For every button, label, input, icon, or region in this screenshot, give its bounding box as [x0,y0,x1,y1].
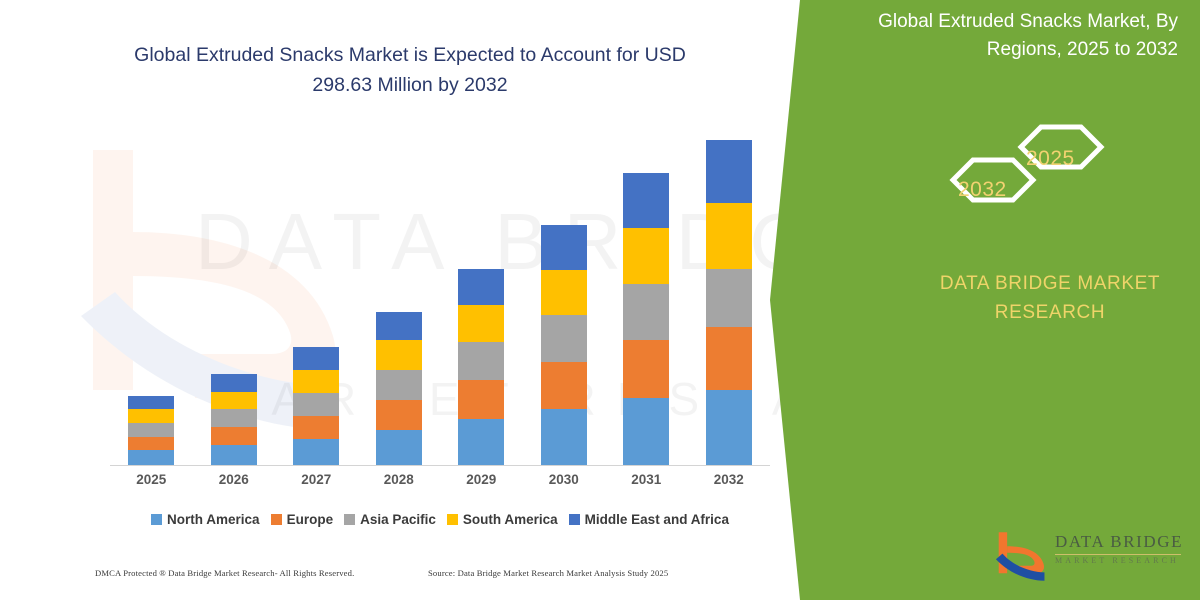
legend-item[interactable]: North America [151,512,260,527]
bar-segment [128,423,174,437]
hexagon-label-start: 2025 [1026,147,1075,171]
bar-segment [128,396,174,410]
bar-segment [706,269,752,327]
legend-label: South America [463,512,558,527]
chart-legend: North AmericaEuropeAsia PacificSouth Ame… [110,512,770,527]
bar-segment [458,380,504,419]
x-axis-tick-label: 2027 [293,472,339,487]
stacked-bar-chart: 20252026202720282029203020312032 [0,0,800,600]
x-axis-tick-label: 2028 [376,472,422,487]
bar-segment [706,203,752,269]
bar-segment [623,398,669,465]
bar-column [458,269,504,465]
legend-swatch-icon [569,514,580,525]
bar-segment [211,427,257,445]
bar-column [376,312,422,465]
brand-logo: DATA BRIDGE MARKET RESEARCH [995,528,1195,584]
bar-segment [293,416,339,439]
logo-tagline: MARKET RESEARCH [1055,556,1179,565]
bar-segment [376,340,422,369]
bar-segment [541,409,587,465]
bar-segment [458,269,504,305]
bar-segment [293,393,339,416]
bar-segment [293,439,339,465]
bar-segment [211,392,257,410]
bar-column [211,374,257,465]
footer: DMCA Protected ® Data Bridge Market Rese… [0,568,800,592]
legend-item[interactable]: South America [447,512,558,527]
bar-segment [541,270,587,315]
bar-segment [128,450,174,465]
hexagon-outline-icon [925,105,1115,220]
legend-swatch-icon [271,514,282,525]
chart-plot-area [110,140,770,465]
footer-copyright: DMCA Protected ® Data Bridge Market Rese… [95,568,354,578]
bar-segment [541,362,587,409]
legend-swatch-icon [447,514,458,525]
infographic-canvas: DATA BRIDGE MARKET RESEARCH Global Extru… [0,0,1200,600]
bar-column [706,140,752,465]
bar-segment [458,305,504,343]
legend-swatch-icon [151,514,162,525]
bar-column [623,173,669,465]
bar-segment [376,400,422,430]
bar-segment [293,347,339,370]
x-axis-tick-label: 2031 [623,472,669,487]
bar-column [293,347,339,465]
logo-title: DATA BRIDGE [1055,532,1183,552]
hexagon-group: 2025 2032 [925,105,1115,220]
bar-segment [623,228,669,284]
bar-segment [293,370,339,393]
legend-label: Europe [287,512,334,527]
x-axis-tick-label: 2029 [458,472,504,487]
legend-label: Asia Pacific [360,512,436,527]
hexagon-label-end: 2032 [958,178,1007,202]
bar-segment [623,284,669,341]
legend-label: Middle East and Africa [585,512,729,527]
bar-segment [211,445,257,465]
bar-segment [706,140,752,203]
x-axis-tick-label: 2030 [541,472,587,487]
bar-segment [376,312,422,340]
bar-segment [458,342,504,380]
bar-segment [128,409,174,423]
x-axis-tick-label: 2026 [211,472,257,487]
legend-swatch-icon [344,514,355,525]
bar-segment [541,225,587,270]
legend-item[interactable]: Asia Pacific [344,512,436,527]
footer-source: Source: Data Bridge Market Research Mark… [428,568,668,578]
chart-baseline-axis [110,465,770,466]
bar-segment [706,390,752,465]
bar-segment [211,374,257,392]
bar-segment [541,315,587,362]
data-bridge-logo-icon [995,530,1051,582]
chart-x-axis-labels: 20252026202720282029203020312032 [110,472,770,496]
legend-label: North America [167,512,260,527]
bar-segment [706,327,752,390]
bar-segment [211,409,257,427]
brand-name: DATA BRIDGE MARKET RESEARCH [900,270,1200,327]
panel-title: Global Extruded Snacks Market, By Region… [823,8,1178,63]
legend-item[interactable]: Europe [271,512,334,527]
legend-item[interactable]: Middle East and Africa [569,512,729,527]
bar-segment [623,173,669,229]
bar-segment [458,419,504,465]
x-axis-tick-label: 2032 [706,472,752,487]
bar-segment [376,430,422,465]
bar-segment [128,437,174,451]
bar-column [541,225,587,465]
x-axis-tick-label: 2025 [128,472,174,487]
bar-column [128,396,174,465]
bar-segment [376,370,422,400]
bar-segment [623,340,669,398]
logo-divider [1055,554,1181,555]
